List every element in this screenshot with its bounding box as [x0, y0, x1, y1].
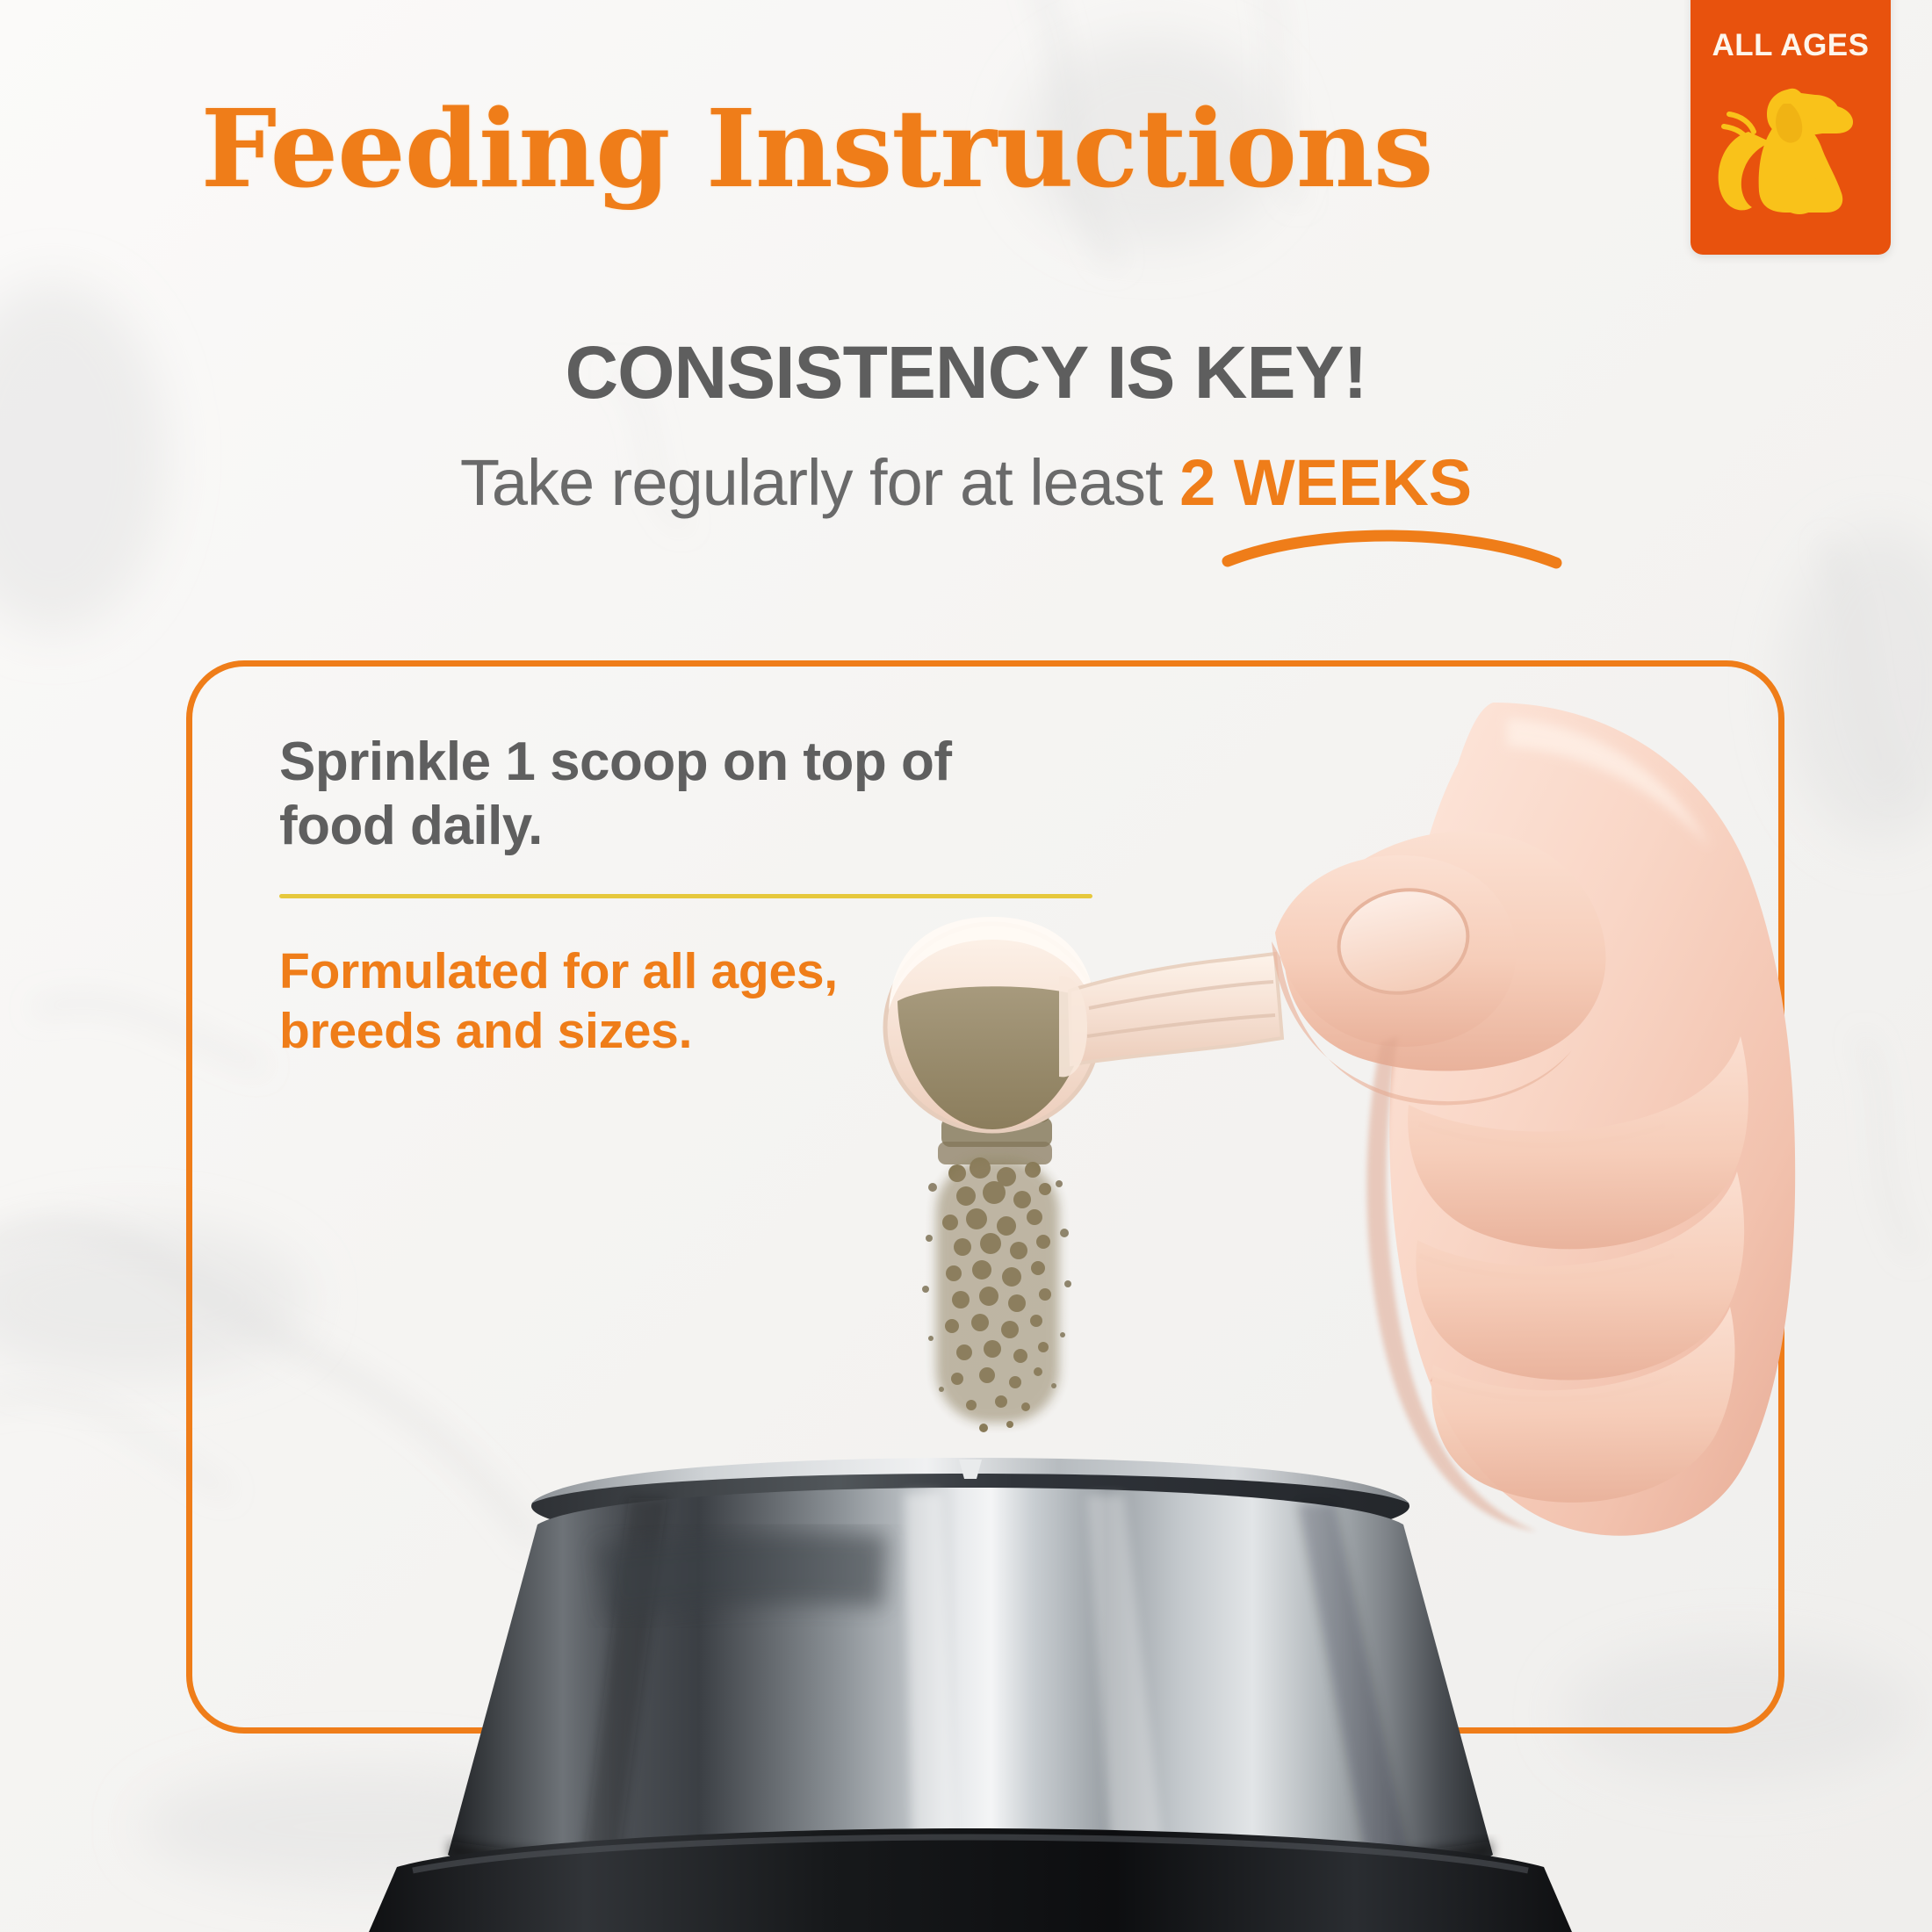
card-divider	[279, 894, 1092, 898]
sitting-dog-icon	[1703, 68, 1878, 218]
card-instruction-text: Sprinkle 1 scoop on top of food daily.	[279, 731, 1034, 858]
infographic-canvas: ALL AGES	[0, 0, 1932, 1932]
underline-swoosh-icon	[1221, 523, 1563, 575]
subtitle-consistency: CONSISTENCY IS KEY!	[0, 335, 1932, 409]
card-formulated-text: Formulated for all ages, breeds and size…	[279, 941, 973, 1062]
all-ages-badge: ALL AGES	[1690, 0, 1891, 255]
tagline-prefix: Take regularly for at least	[460, 446, 1179, 519]
tagline: Take regularly for at least 2 WEEKS	[0, 451, 1932, 515]
card-instruction-block: Sprinkle 1 scoop on top of food daily.	[279, 731, 1034, 858]
badge-label: ALL AGES	[1690, 28, 1891, 63]
page-title: Feeding Instructions	[0, 95, 1633, 202]
tagline-highlight: 2 WEEKS	[1179, 446, 1472, 519]
